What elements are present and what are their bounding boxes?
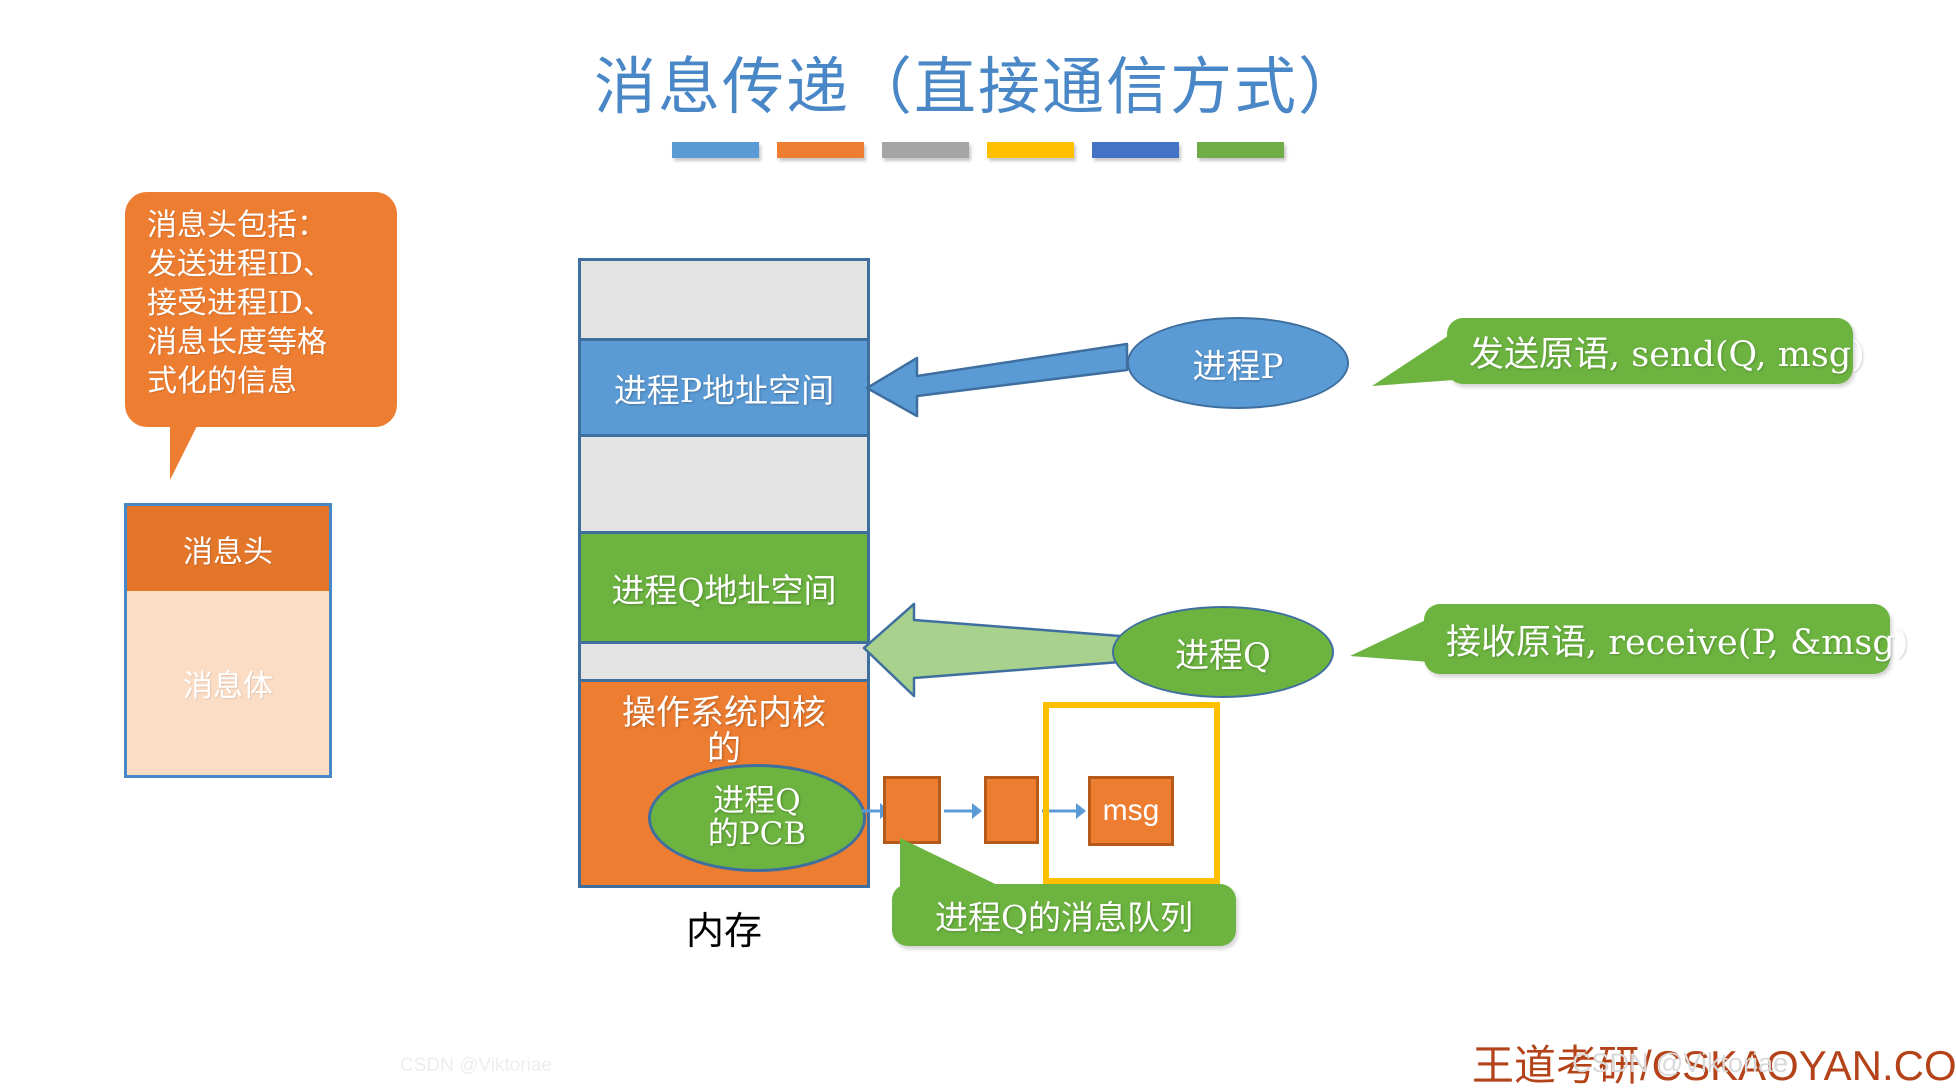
- memory-row-free-3: [578, 641, 870, 679]
- pcb-line-1: 进程Q: [713, 785, 800, 818]
- queue-message-box-1: [883, 776, 941, 844]
- memory-caption: 内存: [578, 900, 870, 955]
- memory-row-process-p: 进程P地址空间: [578, 338, 870, 434]
- color-bar-segment-gray: [882, 142, 969, 158]
- color-bar-segment-blue: [672, 142, 759, 158]
- message-head-cell: 消息头: [127, 506, 329, 591]
- slide-canvas: 消息传递（直接通信方式） 消息头包括： 发送进程ID、 接受进程ID、 消息长度…: [0, 0, 1956, 1090]
- color-bar-segment-orange: [777, 142, 864, 158]
- message-header-callout: 消息头包括： 发送进程ID、 接受进程ID、 消息长度等格 式化的信息: [125, 192, 397, 427]
- message-structure-box: 消息头 消息体: [124, 503, 332, 778]
- memory-row-free-2: [578, 434, 870, 531]
- csdn-watermark-small: CSDN @Viktoriae: [400, 1055, 552, 1077]
- receive-primitive-callout: 接收原语, receive(P, &msg): [1424, 604, 1890, 674]
- color-bar-segment-yellow: [987, 142, 1074, 158]
- memory-row-process-q: 进程Q地址空间: [578, 531, 870, 641]
- page-title: 消息传递（直接通信方式）: [0, 36, 1956, 126]
- pcb-line-2: 的PCB: [708, 818, 806, 851]
- send-direction-arrow-icon: [865, 330, 1135, 430]
- message-queue-callout: 进程Q的消息队列: [892, 884, 1236, 946]
- title-color-bar: [672, 142, 1284, 158]
- process-q-ellipse: 进程Q: [1112, 606, 1334, 698]
- callout-line-2: 发送进程ID、: [147, 245, 381, 284]
- send-callout-tail-icon: [1370, 330, 1454, 396]
- callout-line-1: 消息头包括：: [147, 206, 381, 245]
- queue-message-box-2: [984, 776, 1039, 844]
- process-p-ellipse: 进程P: [1127, 317, 1349, 409]
- csdn-watermark: CSDN @Viktoriae: [1572, 1048, 1788, 1079]
- color-bar-segment-navy: [1092, 142, 1179, 158]
- os-kernel-line-2: 的: [581, 732, 867, 768]
- callout-line-3: 接受进程ID、: [147, 284, 381, 323]
- os-kernel-line-1: 操作系统内核: [581, 696, 867, 732]
- receive-callout-tail-icon: [1348, 616, 1430, 682]
- receive-direction-arrow-icon: [862, 586, 1128, 686]
- color-bar-segment-green: [1197, 142, 1284, 158]
- queue-arrow-1-icon: [944, 798, 982, 824]
- callout-tail-icon: [170, 424, 226, 480]
- memory-row-free-1: [578, 258, 870, 338]
- message-body-cell: 消息体: [127, 591, 329, 775]
- callout-line-5: 式化的信息: [147, 362, 381, 401]
- process-q-pcb-ellipse: 进程Q 的PCB: [648, 764, 866, 872]
- send-primitive-callout: 发送原语, send(Q, msg): [1447, 318, 1853, 384]
- callout-line-4: 消息长度等格: [147, 323, 381, 362]
- os-kernel-label: 操作系统内核 的: [581, 696, 867, 767]
